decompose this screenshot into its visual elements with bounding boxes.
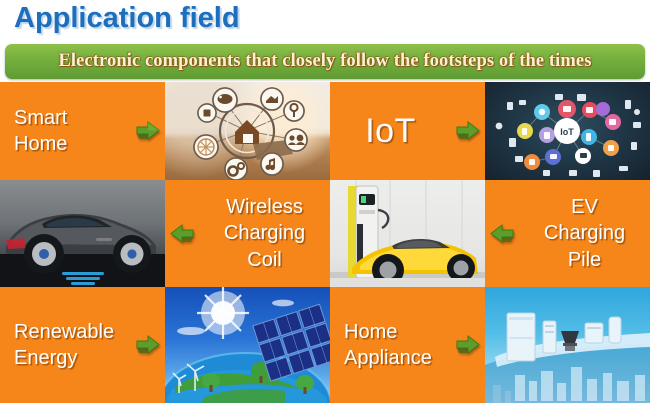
arrow-right-icon — [451, 333, 485, 357]
iot-network-diagram-icon: IoT — [485, 82, 650, 180]
cell-home-appliance-label: HomeAppliance — [330, 319, 451, 372]
cell-ev-charging-pile-label: EVChargingPile — [519, 194, 650, 273]
arrow-left-icon — [165, 222, 199, 246]
cell-ev-charging-image — [330, 180, 485, 287]
cell-iot-image: IoT — [485, 82, 650, 180]
arrow-right-icon — [131, 119, 165, 143]
subtitle-banner: Electronic components that closely follo… — [5, 44, 645, 79]
sports-car-illustration — [0, 180, 165, 287]
arrow-right-icon — [131, 333, 165, 357]
cell-iot[interactable]: IoT — [330, 82, 485, 180]
cell-smart-home[interactable]: SmartHome — [0, 82, 165, 180]
cell-wireless-charging-coil-label: WirelessChargingCoil — [199, 194, 330, 273]
cell-home-appliance[interactable]: HomeAppliance — [330, 287, 485, 403]
arrow-right-icon — [451, 119, 485, 143]
application-field-grid: SmartHome — [0, 82, 650, 403]
cell-ev-charging-pile[interactable]: EVChargingPile — [485, 180, 650, 287]
page-title: Application field — [14, 2, 240, 35]
arrow-left-icon — [485, 222, 519, 246]
cell-smart-home-label: SmartHome — [0, 105, 131, 158]
cell-iot-label: IoT — [330, 109, 451, 154]
ev-charger-and-car-illustration — [330, 180, 485, 287]
cell-smart-home-image — [165, 82, 330, 180]
svg-text:IoT: IoT — [560, 127, 574, 137]
cell-home-appliance-image — [485, 287, 650, 403]
subtitle-banner-text: Electronic components that closely follo… — [58, 51, 591, 72]
cell-wireless-charging-coil[interactable]: WirelessChargingCoil — [165, 180, 330, 287]
home-appliances-illustration — [485, 287, 650, 403]
cell-renewable-energy[interactable]: RenewableEnergy — [0, 287, 165, 403]
solar-panels-earth-illustration — [165, 287, 330, 403]
smart-home-icon-ring — [165, 82, 330, 180]
cell-renewable-energy-label: RenewableEnergy — [0, 319, 131, 372]
cell-car-image — [0, 180, 165, 287]
cell-renewable-energy-image — [165, 287, 330, 403]
